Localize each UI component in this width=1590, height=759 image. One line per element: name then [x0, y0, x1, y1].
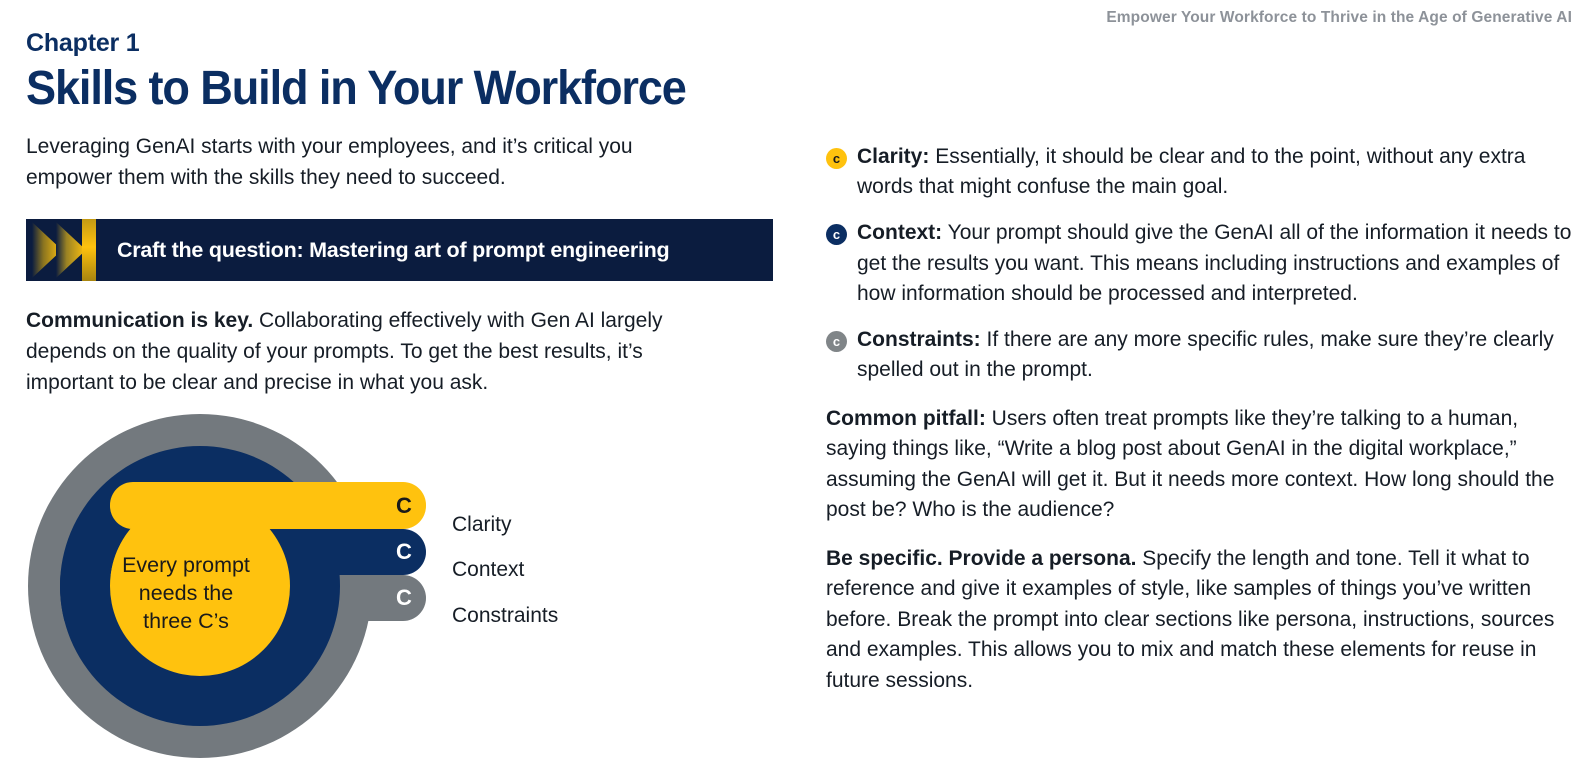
- bullet-text-context: Context: Your prompt should give the Gen…: [857, 218, 1574, 309]
- tab-letter-context: C: [396, 539, 412, 564]
- diagram-center-line-2: needs the: [139, 581, 233, 605]
- clarity-badge-icon: c: [826, 148, 847, 169]
- constraints-badge-icon: c: [826, 331, 847, 352]
- tab-letter-constraints: C: [396, 585, 412, 610]
- legend-item-clarity: Clarity: [452, 502, 652, 548]
- section-banner: Craft the question: Mastering art of pro…: [26, 219, 773, 281]
- right-column: c Clarity: Essentially, it should be cle…: [826, 142, 1574, 697]
- communication-paragraph: Communication is key. Collaborating effe…: [26, 306, 726, 399]
- three-cs-diagram: C C C Every prompt needs the three C’s C…: [14, 404, 594, 759]
- bullet-rest-clarity: Essentially, it should be clear and to t…: [857, 145, 1525, 198]
- double-chevron-icon: [26, 219, 98, 281]
- legend-item-constraints: Constraints: [452, 593, 652, 639]
- left-column: Chapter 1 Skills to Build in Your Workfo…: [26, 30, 786, 399]
- common-pitfall-paragraph: Common pitfall: Users often treat prompt…: [826, 404, 1574, 526]
- bullet-text-clarity: Clarity: Essentially, it should be clear…: [857, 142, 1574, 202]
- running-header: Empower Your Workforce to Thrive in the …: [1106, 9, 1572, 27]
- legend-label-clarity: Clarity: [452, 513, 512, 537]
- legend-label-context: Context: [452, 558, 524, 582]
- bullet-clarity: c Clarity: Essentially, it should be cle…: [826, 142, 1574, 202]
- bullet-rest-context: Your prompt should give the GenAI all of…: [857, 221, 1571, 304]
- banner-title: Craft the question: Mastering art of pro…: [117, 238, 669, 263]
- bullet-context: c Context: Your prompt should give the G…: [826, 218, 1574, 309]
- legend-item-context: Context: [452, 548, 652, 594]
- tab-letter-clarity: C: [396, 493, 412, 518]
- bullet-constraints: c Constraints: If there are any more spe…: [826, 325, 1574, 385]
- diagram-center-line-1: Every prompt: [122, 553, 250, 577]
- chapter-label: Chapter 1: [26, 30, 786, 56]
- bullet-lead-clarity: Clarity:: [857, 145, 929, 168]
- legend-label-constraints: Constraints: [452, 604, 558, 628]
- bullet-lead-context: Context:: [857, 221, 942, 244]
- page-title: Skills to Build in Your Workforce: [26, 64, 740, 115]
- common-pitfall-lead: Common pitfall:: [826, 407, 986, 430]
- be-specific-paragraph: Be specific. Provide a persona. Specify …: [826, 544, 1574, 697]
- communication-lead: Communication is key.: [26, 309, 253, 332]
- bullet-text-constraints: Constraints: If there are any more speci…: [857, 325, 1574, 385]
- context-badge-icon: c: [826, 224, 847, 245]
- intro-paragraph: Leveraging GenAI starts with your employ…: [26, 132, 696, 193]
- diagram-legend: Clarity Context Constraints: [452, 502, 652, 639]
- bullet-lead-constraints: Constraints:: [857, 328, 981, 351]
- be-specific-lead: Be specific. Provide a persona.: [826, 547, 1136, 570]
- diagram-center-line-3: three C’s: [143, 609, 229, 633]
